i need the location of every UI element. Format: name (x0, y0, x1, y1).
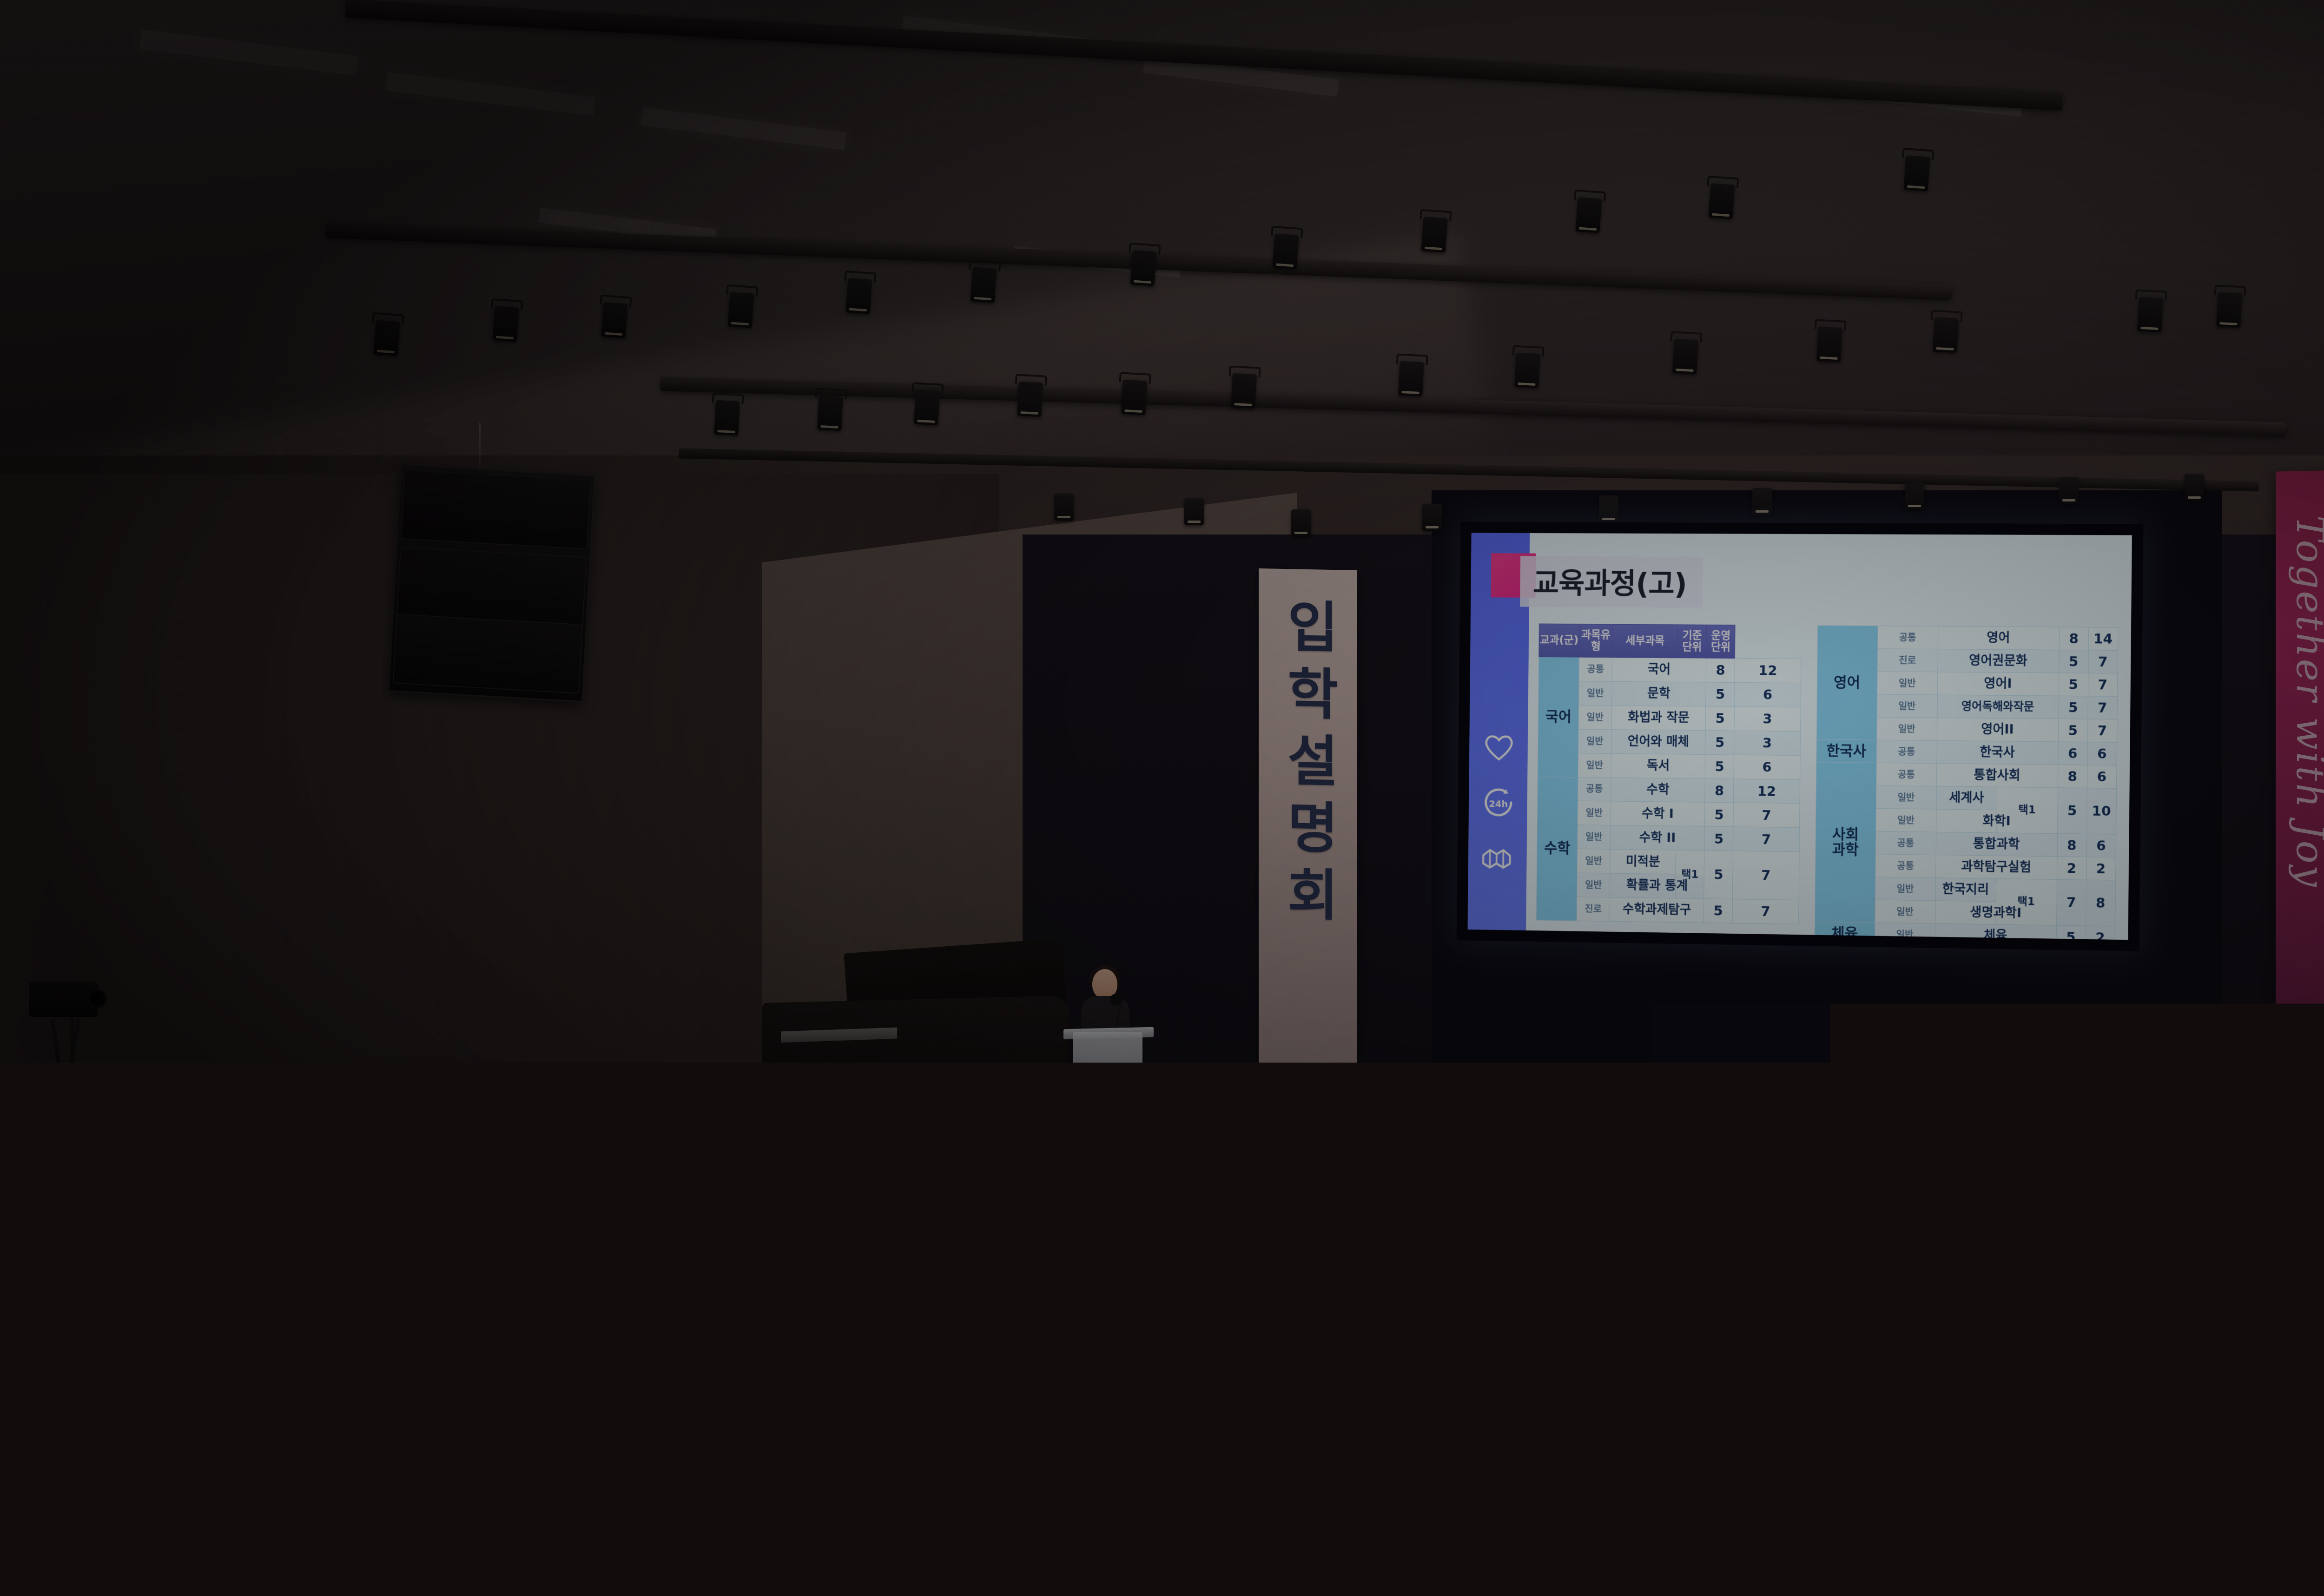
subject-group-cell: 한국사 (1816, 739, 1877, 763)
base-unit-cell: 5 (1706, 682, 1735, 706)
audience-member-head (1225, 1221, 1282, 1286)
operating-unit-cell: 7 (2087, 719, 2117, 742)
stage-light-fixture (817, 396, 843, 431)
table-row: 국어공통국어812 (1538, 657, 1801, 683)
stage-light-fixture (492, 306, 519, 342)
grand-piano (762, 996, 1069, 1138)
slide-title-area: 교육과정(고) (1520, 556, 1703, 607)
stage-light-fixture (1672, 339, 1698, 375)
operating-unit-cell: 3 (1734, 706, 1800, 731)
operating-unit-cell: 14 (2088, 627, 2118, 650)
projection-screen: 24h 교육과정(고) 교과(군) 과목유형 세부과목 (1457, 522, 2144, 951)
subject-type-cell: 일반 (1577, 873, 1611, 897)
subject-name-cell: 통합사회 (1936, 764, 2058, 788)
stage-light-fixture (914, 390, 940, 426)
subject-type-cell: 공통 (1876, 763, 1936, 786)
col-header-base-unit: 기준단위 (1677, 625, 1706, 658)
audience-member-head (505, 1207, 562, 1272)
stage-light-fixture (1272, 233, 1299, 269)
stage-light-fixture (2059, 477, 2079, 504)
subject-name-cell: 언어와 매체 (1611, 729, 1706, 754)
subject-name-cell: 독서 (1611, 753, 1705, 778)
base-unit-cell: 5 (2057, 788, 2087, 834)
audience-member-head (669, 1273, 749, 1365)
subject-type-cell: 일반 (1578, 801, 1611, 825)
col-header-type: 과목유형 (1579, 624, 1613, 658)
subject-group-cell: 영어 (1816, 626, 1878, 740)
subject-type-cell: 공통 (1875, 831, 1936, 855)
operating-unit-cell: 12 (1735, 659, 1801, 683)
subject-name-cell: 미적분 (1610, 849, 1676, 874)
stage-light-fixture (2216, 292, 2242, 328)
table-row: 한국사공통한국사66 (1816, 739, 2117, 765)
stage-light-fixture (373, 320, 400, 356)
stage-light-fixture (1575, 197, 1602, 233)
base-unit-cell: 6 (2058, 742, 2087, 765)
table-body-right: 영어공통영어814진로영어권문화57일반영어I57일반영어독해와작문57일반영어… (1814, 626, 2118, 940)
stage-light-fixture (1905, 482, 1924, 509)
col-header-group: 교과(군) (1539, 624, 1579, 657)
subject-type-cell: 공통 (1875, 854, 1935, 878)
subject-name-cell: 문학 (1612, 681, 1706, 706)
table-body-left: 국어공통국어812일반문학56일반화법과 작문53일반언어와 매체53일반독서5… (1536, 657, 1801, 924)
base-unit-cell: 5 (2059, 673, 2088, 696)
audience-phone-screen (3, 1330, 37, 1353)
audience-member-head (1960, 1240, 2026, 1315)
base-unit-cell: 8 (2058, 765, 2087, 788)
operating-unit-cell: 7 (1733, 851, 1799, 900)
operating-unit-cell: 6 (2086, 834, 2116, 857)
col-header-oper-unit: 운영단위 (1706, 625, 1735, 658)
subject-name-cell: 화법과 작문 (1611, 706, 1706, 731)
operating-unit-cell: 2 (2086, 857, 2116, 880)
audience-member-head (324, 1214, 383, 1280)
handshake-icon (1480, 843, 1516, 876)
subject-type-cell: 진로 (1577, 897, 1610, 922)
base-unit-cell: 8 (1705, 778, 1734, 803)
audience-member-head (435, 1249, 500, 1323)
base-unit-cell: 5 (1705, 730, 1734, 754)
base-unit-cell: 2 (2057, 857, 2086, 880)
event-banner-left: 입학설명회 (1259, 568, 1357, 1068)
subject-type-cell: 일반 (1876, 717, 1937, 740)
stage-light-fixture (1752, 488, 1772, 515)
presentation-slide: 24h 교육과정(고) 교과(군) 과목유형 세부과목 (1468, 533, 2132, 940)
table-row: 수학공통수학812 (1538, 777, 1800, 804)
audience-member-head (988, 1246, 1053, 1319)
heart-icon (1482, 731, 1516, 762)
chair (516, 1510, 683, 1596)
subject-type-cell: 공통 (1579, 657, 1612, 681)
speaker-rigging-chain (479, 423, 481, 474)
subject-name-cell: 과학탐구실험 (1935, 855, 2057, 879)
svg-text:24h: 24h (1489, 799, 1508, 810)
stage-light-fixture (1903, 155, 1930, 191)
camera-lens-icon (87, 989, 107, 1009)
chair (2054, 1505, 2222, 1596)
subject-type-cell: 진로 (1877, 649, 1938, 672)
audience-member-head (1449, 1223, 1507, 1287)
subject-type-cell: 일반 (1577, 849, 1611, 874)
subject-name-cell: 영어권문화 (1937, 649, 2059, 673)
stage-light-fixture (2137, 297, 2163, 333)
subject-name-cell: 세계사 (1936, 786, 1997, 810)
subject-name-cell: 수학 II (1611, 825, 1705, 851)
stage-light-fixture (1121, 380, 1147, 415)
subject-type-cell: 일반 (1876, 785, 1936, 809)
subject-name-cell: 영어 (1938, 626, 2059, 650)
base-unit-cell: 5 (2056, 925, 2086, 940)
operating-unit-cell: 10 (2086, 788, 2116, 834)
motto-english-text: Together with Joy (2288, 515, 2324, 889)
subject-name-cell: 수학 I (1611, 801, 1705, 826)
operating-unit-cell: 7 (2087, 696, 2117, 719)
subject-name-cell: 생명과학I (1935, 901, 2056, 925)
chair (0, 1385, 139, 1520)
stage-light-fixture (1291, 509, 1311, 536)
microphone-icon (1110, 994, 1122, 1006)
base-unit-cell: 8 (2057, 834, 2086, 857)
stage-light-fixture (1184, 498, 1204, 525)
audience-member-head (1889, 1362, 2005, 1501)
stage-light-fixture (714, 400, 740, 436)
auditorium-scene: 입학설명회 우리 함께 즐겁게 Together with Joy 24h (0, 0, 2324, 1596)
stage-monitor-left (1218, 1069, 1315, 1128)
table-row: 사회과학공통통합사회86 (1816, 762, 2116, 788)
stage-light-fixture (970, 267, 997, 303)
stage-light-fixture (845, 278, 872, 314)
event-banner-left-text: 입학설명회 (1280, 598, 1336, 933)
audience-member-head (1834, 1246, 1900, 1320)
base-unit-cell: 5 (1705, 803, 1734, 827)
audience-member-head (2144, 1271, 2225, 1364)
curriculum-tables: 교과(군) 과목유형 세부과목 기준단위 운영단위 국어공통국어812일반문학5… (1536, 624, 2119, 930)
subject-name-cell: 영어I (1937, 672, 2059, 696)
base-unit-cell: 5 (1704, 826, 1733, 851)
subject-type-cell: 공통 (1877, 626, 1938, 649)
subject-type-cell: 공통 (1876, 740, 1937, 763)
subject-type-cell: 일반 (1875, 809, 1936, 832)
stage-light-fixture (1231, 373, 1257, 409)
subject-name-cell: 영어II (1937, 718, 2058, 742)
stage-light-fixture (1130, 250, 1156, 286)
school-motto-banner: 우리 함께 즐겁게 Together with Joy (2276, 469, 2324, 1154)
subject-name-cell: 영어독해와작문 (1937, 695, 2059, 719)
subject-name-cell: 체육 (1935, 923, 2056, 940)
operating-unit-cell: 6 (2087, 765, 2117, 788)
subject-name-cell: 국어 (1612, 658, 1706, 682)
col-header-subject: 세부과목 (1612, 624, 1678, 658)
stage-light-fixture (1599, 495, 1618, 522)
stage-light-fixture (1398, 361, 1424, 397)
base-unit-cell: 8 (2059, 627, 2088, 650)
subject-type-cell: 일반 (1877, 672, 1937, 695)
audience-member-head (1572, 1280, 1653, 1371)
subject-name-cell: 통합과학 (1936, 832, 2057, 857)
table-header-row: 교과(군) 과목유형 세부과목 기준단위 운영단위 (1539, 624, 1802, 659)
operating-unit-cell: 6 (1735, 682, 1801, 707)
subject-name-cell: 한국사 (1937, 740, 2058, 765)
subject-type-cell: 일반 (1875, 923, 1935, 940)
stage-light-fixture (1054, 494, 1074, 521)
subject-type-cell: 일반 (1579, 681, 1612, 706)
stage-light-fixture (1933, 317, 1959, 353)
table-head-left: 교과(군) 과목유형 세부과목 기준단위 운영단위 (1539, 624, 1802, 659)
base-unit-cell: 5 (1704, 899, 1733, 923)
audience-member (2287, 1497, 2324, 1596)
lectern-school-emblem-icon (1091, 1069, 1122, 1100)
stage-light-fixture (1422, 504, 1442, 531)
base-unit-cell: 5 (1705, 754, 1734, 778)
subject-name-cell: 수학과제탐구 (1610, 897, 1704, 923)
base-unit-cell: 5 (1704, 851, 1733, 899)
base-unit-cell: 5 (2058, 696, 2087, 719)
operating-unit-cell: 7 (2088, 650, 2118, 673)
base-unit-cell: 5 (2058, 719, 2087, 742)
subject-type-cell: 일반 (1875, 877, 1935, 901)
24h-icon: 24h (1481, 785, 1515, 819)
curriculum-table-right: 영어공통영어814진로영어권문화57일반영어I57일반영어독해와작문57일반영어… (1814, 625, 2119, 940)
audience-member-head (1335, 1273, 1416, 1365)
operating-unit-cell: 2 (2086, 926, 2115, 940)
audience-member-head (1486, 1441, 1595, 1557)
stage-light-fixture (601, 302, 627, 338)
subject-name-cell: 화학I (1936, 809, 2057, 833)
operating-unit-cell: 12 (1734, 779, 1800, 804)
subject-type-cell: 일반 (1578, 729, 1612, 753)
stage-light-fixture (1017, 382, 1043, 417)
audience-member-head (235, 1251, 300, 1325)
operating-unit-cell: 6 (1734, 755, 1800, 779)
audience-member-head (269, 1337, 382, 1476)
subject-name-cell: 한국지리 (1935, 878, 1996, 902)
curriculum-table-left: 교과(군) 과목유형 세부과목 기준단위 운영단위 국어공통국어812일반문학5… (1536, 624, 1802, 925)
operating-unit-cell: 7 (2088, 673, 2118, 696)
audience-area (0, 1125, 2324, 1596)
stage-light-fixture (1816, 327, 1842, 363)
table-row: 영어공통영어814 (1817, 626, 2118, 651)
audience-member-head (2116, 1217, 2174, 1283)
slide-rail-icons: 24h (1479, 731, 1518, 876)
base-unit-cell: 7 (2056, 879, 2086, 926)
stage-light-fixture (2185, 474, 2204, 501)
stage-light-fixture (1421, 217, 1447, 252)
base-unit-cell: 5 (1706, 706, 1735, 731)
stage-light-fixture (1514, 353, 1540, 389)
subject-type-cell: 일반 (1875, 900, 1935, 923)
operating-unit-cell: 7 (1733, 803, 1799, 828)
operating-unit-cell: 6 (2087, 742, 2117, 765)
subject-group-cell: 수학 (1536, 777, 1578, 921)
operating-unit-cell: 7 (1733, 827, 1799, 852)
subject-type-cell: 공통 (1578, 777, 1611, 801)
subject-group-cell: 사회과학 (1815, 762, 1876, 923)
subject-type-cell: 일반 (1877, 694, 1937, 718)
base-unit-cell: 5 (2059, 650, 2088, 673)
subject-group-cell: 체육 (1815, 922, 1875, 940)
stage-light-fixture (727, 292, 754, 328)
subject-name-cell: 수학 (1611, 778, 1705, 803)
audience-member-head (751, 1219, 809, 1284)
operating-unit-cell: 3 (1734, 731, 1800, 755)
base-unit-cell: 8 (1706, 658, 1735, 682)
operating-unit-cell: 8 (2086, 880, 2115, 926)
subject-type-cell: 일반 (1578, 825, 1611, 849)
subject-type-cell: 일반 (1578, 753, 1611, 777)
audience-member-head (1120, 1343, 1240, 1491)
operating-unit-cell: 7 (1732, 899, 1798, 924)
subject-type-cell: 일반 (1578, 705, 1612, 729)
audience-phone-screen (100, 1144, 129, 1189)
slide-title: 교육과정(고) (1520, 556, 1703, 607)
audience-member-head (746, 1402, 860, 1530)
stage-light-fixture (1708, 183, 1735, 219)
subject-group-cell: 국어 (1538, 657, 1579, 777)
line-array-speaker-left (388, 464, 596, 703)
audience-member-head (906, 1278, 986, 1369)
